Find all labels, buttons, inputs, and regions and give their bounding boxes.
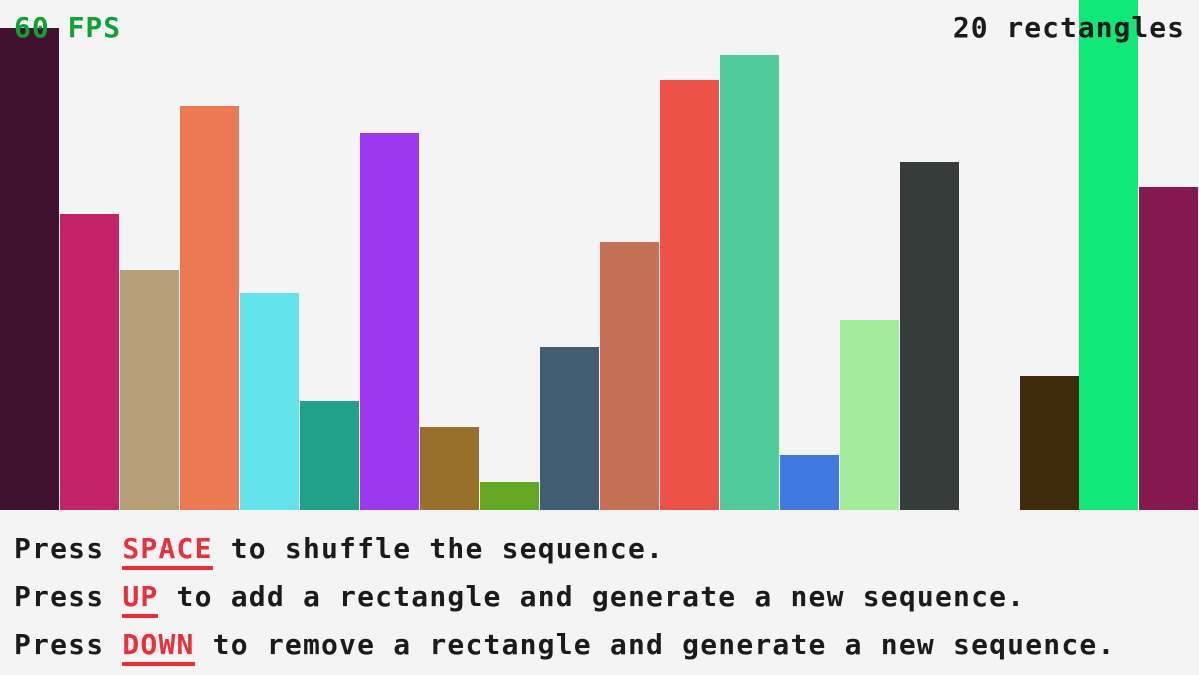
bar-violet xyxy=(360,133,419,510)
rectangle-demo-canvas: 60 FPS 20 rectangles Press SPACE to shuf… xyxy=(0,0,1199,675)
bar-dark-brown xyxy=(1020,376,1079,510)
key-space[interactable]: SPACE xyxy=(122,532,212,570)
bar-charcoal xyxy=(900,162,959,510)
bar-cyan xyxy=(240,293,299,510)
bar-olive-green xyxy=(480,482,539,510)
instruction-line-shuffle: Press SPACE to shuffle the sequence. xyxy=(14,532,664,565)
bar-salmon-brown xyxy=(600,242,659,510)
rectangle-count-label: 20 rectangles xyxy=(953,11,1185,44)
bar-slate-blue xyxy=(540,347,599,510)
fps-counter: 60 FPS xyxy=(14,11,121,44)
bar-brown xyxy=(420,427,479,510)
bar-tan xyxy=(120,270,179,510)
bar-blue xyxy=(780,455,839,510)
instructions-panel: Press SPACE to shuffle the sequence. Pre… xyxy=(0,512,1199,675)
bar-bright-green xyxy=(1079,0,1138,510)
instruction-line-remove: Press DOWN to remove a rectangle and gen… xyxy=(14,628,1116,661)
bar-magenta xyxy=(60,214,119,510)
bar-red xyxy=(660,80,719,510)
key-down[interactable]: DOWN xyxy=(122,628,194,666)
bar-mint-green xyxy=(720,55,779,510)
bar-teal xyxy=(300,401,359,510)
bar-chart xyxy=(0,0,1199,510)
instruction-suffix-2: to add a rectangle and generate a new se… xyxy=(158,580,1025,613)
key-up[interactable]: UP xyxy=(122,580,158,618)
bar-orange xyxy=(180,106,239,510)
bar-dark-magenta xyxy=(1139,187,1198,510)
instruction-line-add: Press UP to add a rectangle and generate… xyxy=(14,580,1025,613)
bar-dark-plum xyxy=(0,28,59,510)
instruction-prefix-1: Press xyxy=(14,532,122,565)
bar-light-green xyxy=(840,320,899,510)
instruction-suffix-1: to shuffle the sequence. xyxy=(213,532,664,565)
instruction-suffix-3: to remove a rectangle and generate a new… xyxy=(195,628,1116,661)
instruction-prefix-2: Press xyxy=(14,580,122,613)
instruction-prefix-3: Press xyxy=(14,628,122,661)
